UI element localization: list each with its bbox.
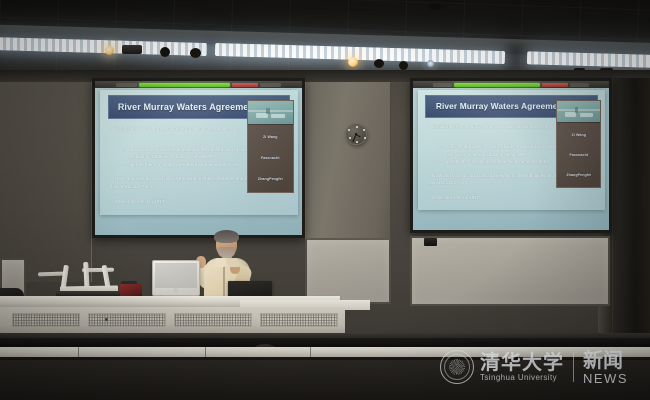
lecture-hall-photo: River Murray Waters Agreement 1915 Estab… [0, 0, 650, 400]
wall-dark-panel-right [612, 78, 650, 360]
podium-lock-knob[interactable] [105, 318, 108, 321]
wall-panel-left [0, 82, 92, 282]
stop-share-indicator-bar[interactable] [232, 83, 259, 87]
floor [0, 360, 650, 400]
video-conference-panel[interactable]: Zi Wang Fassnacht ZhangPengfei [556, 100, 601, 189]
slide-canvas: River Murray Waters Agreement 1915 Estab… [100, 90, 298, 215]
desk-seam [310, 347, 311, 357]
ceiling-fixture-1 [122, 45, 142, 54]
whiteboard-right [410, 236, 610, 306]
projection-screen-right[interactable]: River Murray Waters Agreement 1915 Estab… [410, 78, 612, 233]
wall-clock [345, 123, 367, 145]
recording-indicator-bar [454, 83, 540, 87]
podium-vent-panel [12, 313, 80, 327]
participant-list: Zi Wang Fassnacht ZhangPengfei [248, 125, 294, 192]
whiteboard-center [305, 238, 391, 304]
desk-seam [205, 347, 206, 357]
slide-bullet-3: Came into effect in 1917 [427, 195, 590, 203]
video-feed-thumbnail[interactable] [557, 101, 600, 124]
toolbar-right-segment [260, 83, 281, 87]
ceiling-fixture-2 [160, 47, 170, 57]
presenter-beard [218, 247, 235, 258]
presentation-app-toolbar[interactable] [413, 81, 609, 88]
participant-name[interactable]: ZhangPengfei [248, 177, 294, 181]
participant-name[interactable]: Fassnacht [557, 153, 600, 157]
spotlight-2 [348, 57, 358, 67]
clock-center-pin [355, 133, 357, 135]
toolbar-left-segment [116, 83, 137, 87]
seating-row-1-front [0, 338, 650, 347]
toolbar-right-segment [570, 83, 590, 87]
desk-seam [78, 347, 79, 357]
slide-bullet-3: Came into effect in 1917 [110, 199, 283, 207]
participant-name[interactable]: Zi Wang [248, 135, 294, 139]
seating-row-1-desktop [0, 347, 650, 357]
participant-name[interactable]: Zi Wang [557, 133, 600, 137]
projection-screen-left[interactable]: River Murray Waters Agreement 1915 Estab… [92, 78, 305, 238]
recording-indicator-bar [139, 83, 230, 87]
presentation-app-toolbar[interactable] [95, 81, 302, 88]
spotlight-3 [427, 60, 434, 67]
participant-list: Zi Wang Fassnacht ZhangPengfei [557, 123, 600, 187]
podium-vent-panel [174, 313, 252, 327]
ceiling-fixture-4 [374, 59, 384, 68]
video-feed-thumbnail[interactable] [248, 101, 294, 125]
stop-share-indicator-bar[interactable] [542, 83, 567, 87]
toolbar-left-segment [433, 83, 453, 87]
ceiling [0, 0, 650, 78]
video-conference-panel[interactable]: Zi Wang Fassnacht ZhangPengfei [247, 100, 295, 193]
spotlight-1 [105, 46, 114, 55]
participant-name[interactable]: Fassnacht [248, 156, 294, 160]
imac-display-glass [155, 263, 197, 288]
slide-canvas: River Murray Waters Agreement 1915 Estab… [418, 90, 605, 210]
ceiling-fixture-5 [399, 61, 408, 70]
presenter-hair [214, 230, 239, 243]
participant-name[interactable]: ZhangPengfei [557, 173, 600, 177]
ceiling-fixture-3 [190, 48, 201, 58]
whiteboard-marker-holder [424, 238, 437, 246]
ceiling-smoke-detector [429, 3, 441, 10]
podium-vent-panel [260, 313, 338, 327]
podium-vent-panel [88, 313, 166, 327]
